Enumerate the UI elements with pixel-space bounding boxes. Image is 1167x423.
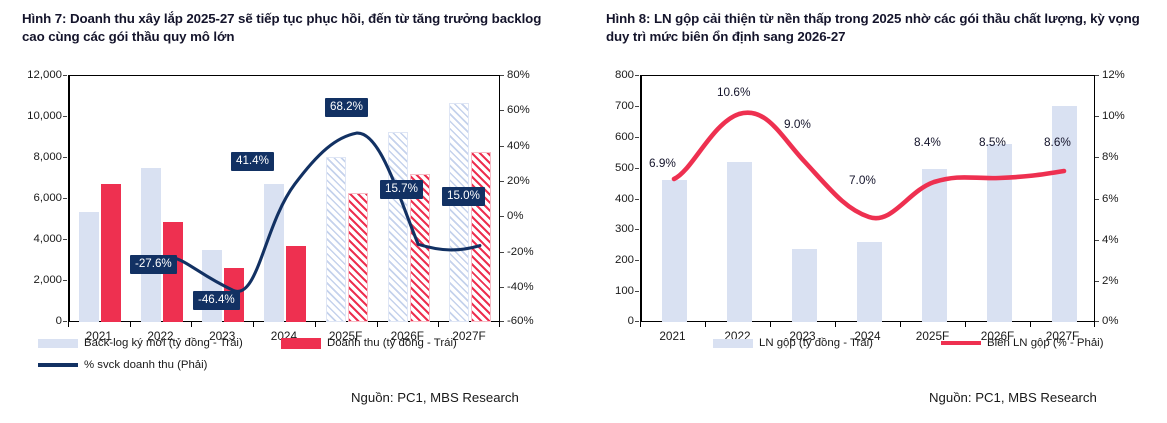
y-axis-right-tick: -60%: [507, 316, 534, 327]
legend-item-gross-profit[interactable]: LN gộp (tỷ đồng - Trái): [713, 337, 873, 349]
figure-7-legend: Back-log ký mới (tỷ đồng - Trái) Doanh t…: [38, 337, 558, 377]
y-tick-mark: [635, 137, 639, 138]
x-axis-label-2021: 2021: [642, 331, 703, 343]
figure-8-legend: LN gộp (tỷ đồng - Trái) Biên LN gộp (% -…: [713, 337, 1163, 359]
y-axis-right-tick: 0%: [1102, 316, 1118, 327]
y-axis-right-tick: 60%: [507, 105, 530, 116]
margin-label-2025f: 8.4%: [914, 137, 941, 149]
y-tick-mark: [635, 321, 639, 322]
margin-label-2021: 6.9%: [649, 158, 676, 170]
y-axis-right-tick: 2%: [1102, 276, 1118, 287]
y-axis-right-tick: 0%: [507, 211, 523, 222]
y-axis-right-tick: 8%: [1102, 152, 1118, 163]
figure-8-title: Hình 8: LN gộp cải thiện từ nền thấp tro…: [606, 10, 1151, 46]
y-axis-left-tick: 8,000: [2, 152, 62, 163]
y-axis-left-tick: 6,000: [2, 193, 62, 204]
y-axis-left-tick: 10,000: [2, 111, 62, 122]
y-axis-left-tick: 500: [590, 163, 634, 174]
y-axis-right-tick: 80%: [507, 70, 530, 81]
legend-swatch-revenue: [281, 338, 321, 349]
y-axis-right-tick: 40%: [507, 141, 530, 152]
y2-tick-mark: [500, 181, 504, 182]
margin-label-2026f: 8.5%: [979, 137, 1006, 149]
figure-8-plot-area: 800 700 600 500 400 300 200 100 0 12% 10…: [640, 75, 1095, 322]
y-axis-right-tick: 12%: [1102, 70, 1125, 81]
y-axis-left-tick: 700: [590, 101, 634, 112]
y-axis-right-tick: 20%: [507, 176, 530, 187]
y2-tick-mark: [1095, 199, 1099, 200]
y2-tick-mark: [500, 252, 504, 253]
y-tick-mark: [635, 168, 639, 169]
figure-7-plot-area: 12,000 10,000 8,000 6,000 4,000 2,000 0 …: [68, 75, 500, 322]
growth-label-2027f: 15.0%: [442, 187, 485, 206]
y-tick-mark: [635, 199, 639, 200]
y2-tick-mark: [1095, 321, 1099, 322]
legend-item-backlog[interactable]: Back-log ký mới (tỷ đồng - Trái): [38, 337, 243, 349]
legend-swatch-gross-margin: [941, 341, 981, 345]
legend-item-growth[interactable]: % svck doanh thu (Phải): [38, 359, 207, 371]
legend-label-backlog: Back-log ký mới (tỷ đồng - Trái): [84, 337, 243, 349]
y-tick-mark: [635, 291, 639, 292]
growth-label-2022: -27.6%: [130, 255, 177, 274]
growth-label-2023: -46.4%: [193, 291, 240, 310]
y-axis-left-tick: 2,000: [2, 275, 62, 286]
margin-label-2024: 7.0%: [849, 175, 876, 187]
y-axis-left-tick: 12,000: [2, 70, 62, 81]
figure-7-source: Nguồn: PC1, MBS Research: [351, 390, 519, 405]
margin-label-2023: 9.0%: [784, 119, 811, 131]
y-tick-mark: [635, 229, 639, 230]
legend-item-revenue[interactable]: Doanh thu (tỷ đồng - Trái): [281, 337, 457, 349]
y-axis-left-tick: 400: [590, 194, 634, 205]
legend-label-growth: % svck doanh thu (Phải): [84, 359, 207, 371]
growth-line-series: [68, 75, 500, 322]
margin-line-series: [640, 75, 1095, 322]
growth-label-2024: 41.4%: [231, 152, 274, 171]
y-axis-right-tick: 10%: [1102, 111, 1125, 122]
y2-tick-mark: [500, 75, 504, 76]
figures-page: Hình 7: Doanh thu xây lắp 2025-27 sẽ tiế…: [0, 0, 1167, 423]
legend-label-gross-profit: LN gộp (tỷ đồng - Trái): [759, 337, 873, 349]
y-tick-mark: [63, 321, 67, 322]
y-tick-mark: [635, 75, 639, 76]
y2-tick-mark: [500, 321, 504, 322]
y-tick-mark: [63, 280, 67, 281]
y-axis-left-tick: 0: [2, 316, 62, 327]
y-axis-left-tick: 300: [590, 224, 634, 235]
figure-7-panel: Hình 7: Doanh thu xây lắp 2025-27 sẽ tiế…: [0, 0, 584, 423]
y-axis-left-tick: 4,000: [2, 234, 62, 245]
y2-tick-mark: [1095, 240, 1099, 241]
margin-label-2022: 10.6%: [717, 87, 750, 99]
y-axis-left-tick: 100: [590, 286, 634, 297]
figure-8-source: Nguồn: PC1, MBS Research: [929, 390, 1097, 405]
y2-tick-mark: [1095, 75, 1099, 76]
y2-tick-mark: [1095, 157, 1099, 158]
y-axis-right-tick: -20%: [507, 247, 534, 258]
y-axis-left-tick: 600: [590, 132, 634, 143]
legend-label-revenue: Doanh thu (tỷ đồng - Trái): [327, 337, 457, 349]
y-tick-mark: [63, 116, 67, 117]
y-tick-mark: [635, 106, 639, 107]
figure-8-panel: Hình 8: LN gộp cải thiện từ nền thấp tro…: [584, 0, 1167, 423]
y-tick-mark: [63, 198, 67, 199]
y-tick-mark: [635, 260, 639, 261]
legend-item-gross-margin[interactable]: Biên LN gộp (% - Phải): [941, 337, 1104, 349]
y-axis-left-tick: 800: [590, 70, 634, 81]
growth-label-2026f: 15.7%: [380, 180, 423, 199]
y2-tick-mark: [1095, 116, 1099, 117]
legend-swatch-backlog: [38, 339, 78, 348]
figure-7-title: Hình 7: Doanh thu xây lắp 2025-27 sẽ tiế…: [22, 10, 562, 46]
legend-swatch-growth: [38, 363, 78, 367]
growth-label-2025f: 68.2%: [325, 98, 368, 117]
y-axis-right-tick: 6%: [1102, 194, 1118, 205]
y2-tick-mark: [500, 216, 504, 217]
legend-swatch-gross-profit: [713, 339, 753, 348]
y-tick-mark: [63, 75, 67, 76]
y-axis-left-tick: 0: [590, 316, 634, 327]
y-axis-right-tick: 4%: [1102, 235, 1118, 246]
legend-label-gross-margin: Biên LN gộp (% - Phải): [987, 337, 1104, 349]
y2-tick-mark: [500, 287, 504, 288]
y2-tick-mark: [500, 146, 504, 147]
y-tick-mark: [63, 157, 67, 158]
y-axis-right-tick: -40%: [507, 282, 534, 293]
y2-tick-mark: [1095, 281, 1099, 282]
margin-label-2027f: 8.6%: [1044, 137, 1071, 149]
y-tick-mark: [63, 239, 67, 240]
y-axis-left-tick: 200: [590, 255, 634, 266]
y2-tick-mark: [500, 110, 504, 111]
